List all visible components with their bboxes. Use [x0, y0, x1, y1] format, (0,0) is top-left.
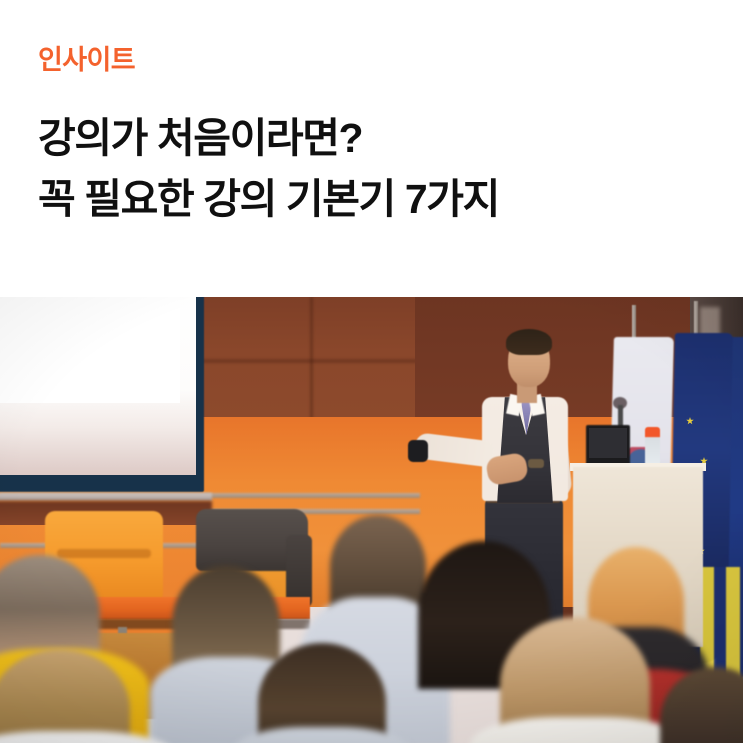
hero-photo-scene: [0, 297, 743, 743]
orange-chair-seam: [57, 549, 151, 558]
text-block: 인사이트 강의가 처음이라면? 꼭 필요한 강의 기본기 7가지: [38, 44, 718, 231]
speaker-hair: [506, 329, 552, 355]
speaker-wristwatch: [528, 459, 544, 468]
hero-photo: [0, 297, 743, 743]
projection-screen-glow: [0, 297, 180, 403]
insight-card: 인사이트 강의가 처음이라면? 꼭 필요한 강의 기본기 7가지: [0, 0, 743, 743]
wall-seam-vertical: [310, 297, 313, 419]
presenter-remote: [408, 440, 428, 462]
projection-screen-shelf: [0, 493, 212, 501]
podium-laptop-screen: [589, 428, 627, 458]
page-title: 강의가 처음이라면? 꼭 필요한 강의 기본기 7가지: [38, 108, 718, 231]
category-eyebrow-label: 인사이트: [38, 44, 718, 78]
